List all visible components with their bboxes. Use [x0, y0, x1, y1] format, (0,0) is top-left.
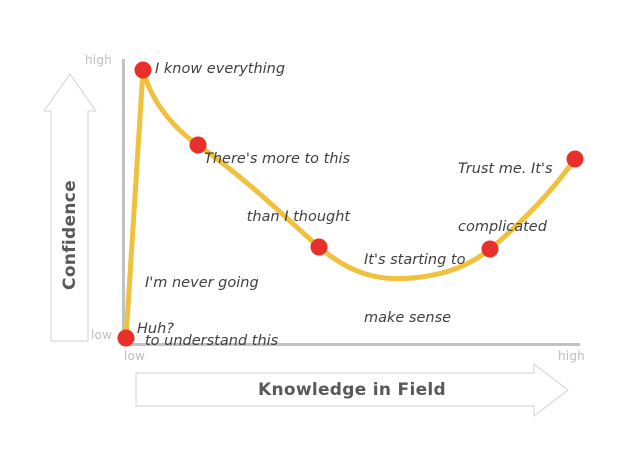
annotation-line: I'm never going: [145, 274, 310, 293]
y-tick-low: low: [91, 328, 112, 342]
x-tick-low: low: [124, 349, 145, 363]
annotation-starting-to-make-sense: It's starting to make sense: [364, 213, 465, 366]
annotation-line: Trust me. It's: [458, 160, 553, 179]
annotation-trust-me-its-complicated: Trust me. It's complicated: [458, 122, 553, 275]
data-point[interactable]: [135, 62, 152, 79]
annotation-never-going-to-understand: I'm never going to understand this: [145, 236, 310, 389]
annotation-line: to understand this: [145, 332, 310, 351]
annotation-line: complicated: [458, 218, 553, 237]
y-tick-high: high: [85, 53, 112, 67]
annotation-line: There's more to this: [204, 150, 350, 169]
data-point[interactable]: [567, 151, 584, 168]
x-tick-high: high: [558, 349, 585, 363]
annotation-i-know-everything: I know everything: [155, 60, 285, 79]
chart-canvas: Confidence Knowledge in Field high low l…: [0, 0, 639, 470]
annotation-line: than I thought: [204, 208, 350, 227]
annotation-line: It's starting to: [364, 251, 465, 270]
data-point[interactable]: [118, 330, 135, 347]
annotation-line: make sense: [364, 309, 465, 328]
y-axis-title: Confidence: [60, 180, 80, 290]
